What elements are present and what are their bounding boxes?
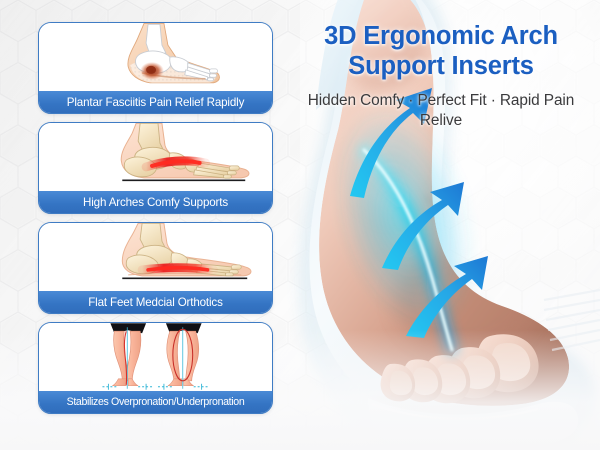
headline-block: 3D Ergonomic Arch Support Inserts Hidden… — [296, 22, 586, 131]
feature-panel-caption: Flat Feet Medcial Orthotics — [38, 291, 273, 314]
feature-panel-list: Plantar Fasciitis Pain Relief Rapidly — [38, 22, 273, 422]
flat-foot-anatomy-icon — [39, 223, 272, 293]
product-feature-banner: 3D Ergonomic Arch Support Inserts Hidden… — [0, 0, 600, 450]
high-arch-foot-anatomy-icon — [39, 123, 272, 193]
legs-overpronation — [102, 323, 152, 389]
leg-alignment-comparison-icon — [39, 323, 272, 393]
feature-panel-caption: Plantar Fasciitis Pain Relief Rapidly — [38, 91, 273, 114]
feature-panel-pronation[interactable]: Stabilizes Overpronation/Underpronation — [38, 322, 273, 414]
feature-panel-caption: High Arches Comfy Supports — [38, 191, 273, 214]
feature-panel-flat-feet[interactable]: Flat Feet Medcial Orthotics — [38, 222, 273, 314]
page-title: 3D Ergonomic Arch Support Inserts — [296, 22, 586, 82]
page-subtitle: Hidden Comfy · Perfect Fit · Rapid Pain … — [296, 91, 586, 132]
foot-xray-skeleton-icon — [39, 23, 272, 93]
feature-panel-high-arches[interactable]: High Arches Comfy Supports — [38, 122, 273, 214]
feature-panel-plantar-fasciitis[interactable]: Plantar Fasciitis Pain Relief Rapidly — [38, 22, 273, 114]
feature-panel-caption: Stabilizes Overpronation/Underpronation — [38, 391, 273, 414]
legs-underpronation — [158, 323, 208, 389]
